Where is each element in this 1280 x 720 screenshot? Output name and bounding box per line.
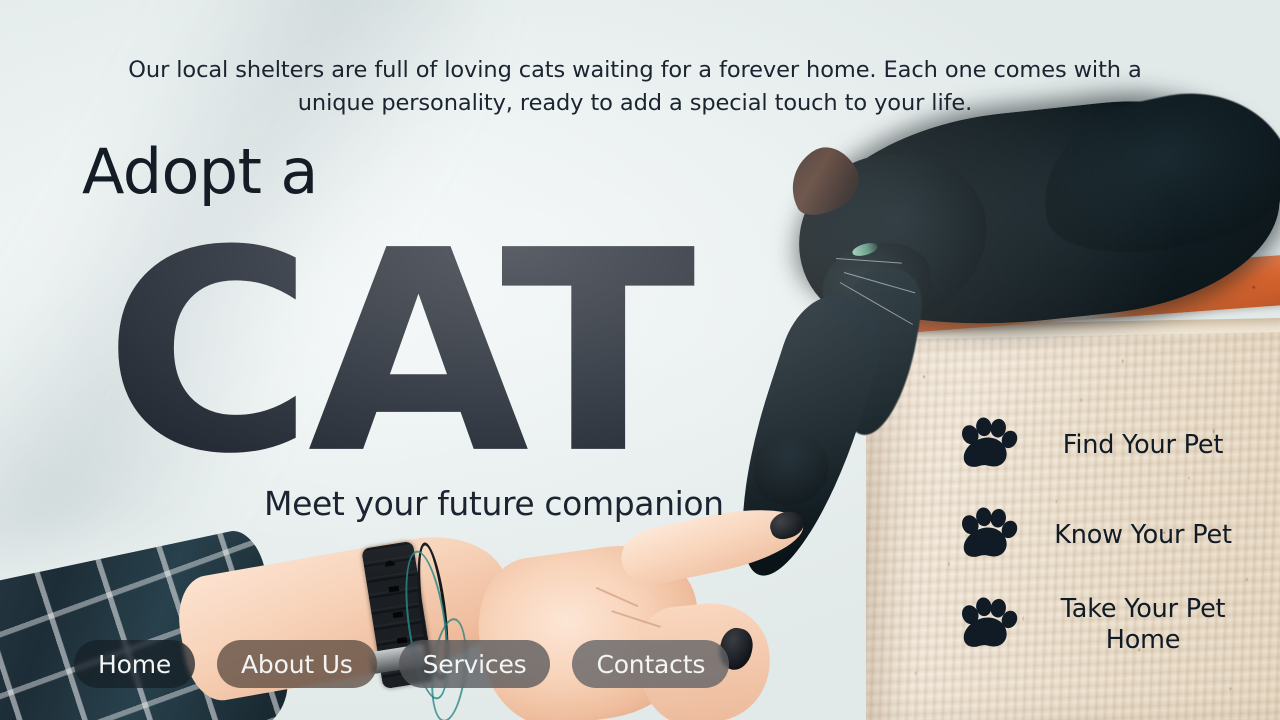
hero-eyebrow: Adopt a xyxy=(82,141,318,203)
hero-tagline: Meet your future companion xyxy=(264,484,724,523)
hero-lede: Our local shelters are full of loving ca… xyxy=(90,54,1180,121)
paw-print-icon xyxy=(958,597,1018,653)
hero-section: CAT Our local shelters are full of xyxy=(0,0,1280,720)
list-item-label: Find Your Pet xyxy=(1028,430,1258,461)
nav-item-about-us[interactable]: About Us xyxy=(217,640,377,688)
nav-item-contacts[interactable]: Contacts xyxy=(572,640,729,688)
list-item[interactable]: Take Your Pet Home xyxy=(958,594,1258,656)
nav-item-home[interactable]: Home xyxy=(74,640,195,688)
nav-item-services[interactable]: Services xyxy=(399,640,551,688)
feature-list: Find Your Pet Know Your Pet xyxy=(958,414,1258,656)
page-title: CAT xyxy=(104,214,689,492)
list-item-label: Take Your Pet Home xyxy=(1028,594,1258,655)
list-item[interactable]: Know Your Pet xyxy=(958,504,1258,566)
list-item-label: Know Your Pet xyxy=(1028,520,1258,551)
paw-print-icon xyxy=(958,507,1018,563)
list-item[interactable]: Find Your Pet xyxy=(958,414,1258,476)
paw-print-icon xyxy=(958,417,1018,473)
main-navigation: Home About Us Services Contacts xyxy=(74,640,729,688)
